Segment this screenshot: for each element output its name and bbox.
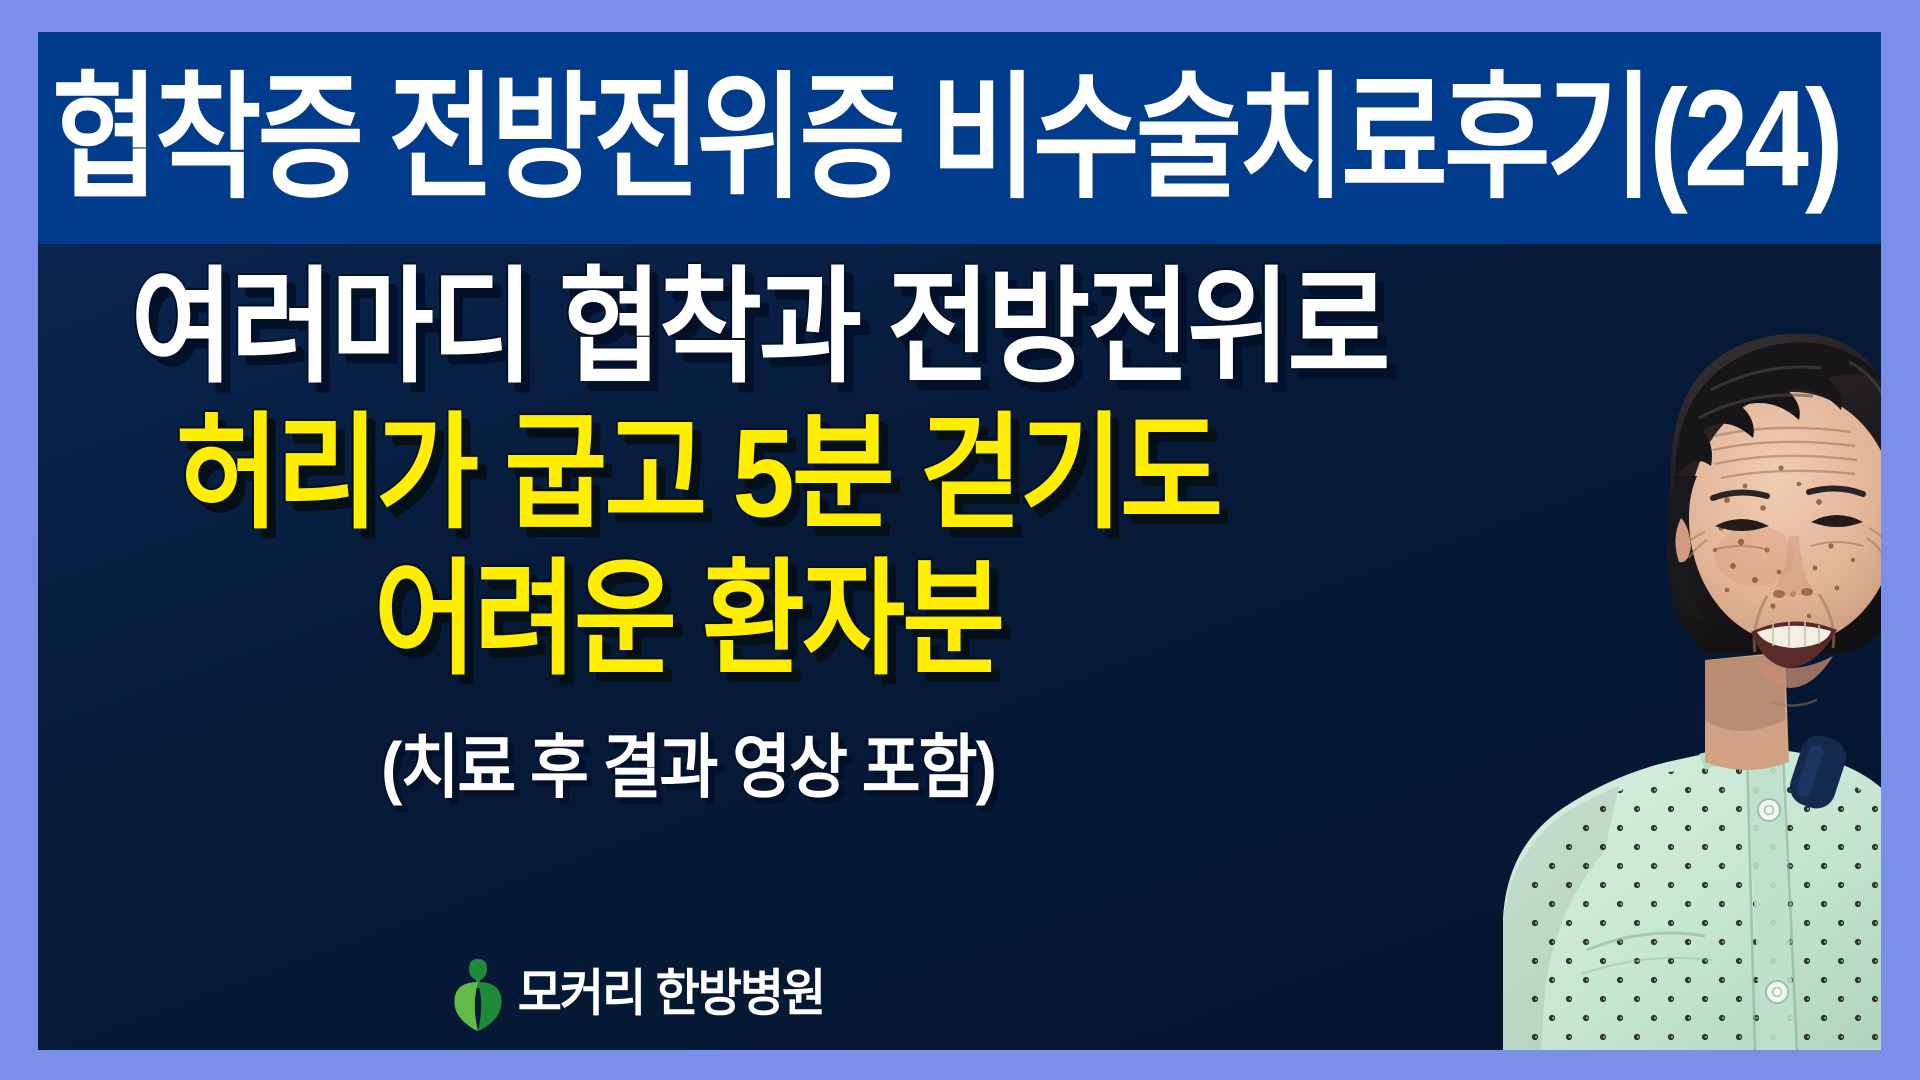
video-thumbnail: 협착증 전방전위증 비수술치료후기(24) [0, 0, 1920, 1080]
headline-block: 여러마디 협착과 전방전위로 허리가 굽고 5분 걷기도 어려운 환자분 (치료… [38, 262, 1458, 808]
thumbnail-card: 협착증 전방전위증 비수술치료후기(24) [38, 32, 1881, 1050]
thumbnail-body: 여러마디 협착과 전방전위로 허리가 굽고 5분 걷기도 어려운 환자분 (치료… [38, 244, 1881, 1050]
hospital-logo-text: 모커리 한방병원 [518, 970, 824, 1020]
headline-note: (치료 후 결과 영상 포함) [381, 712, 995, 811]
header-title: 협착증 전방전위증 비수술치료후기(24) [38, 70, 1840, 207]
headline-line-2: 허리가 굽고 5분 걷기도 [176, 411, 1220, 536]
lapel-microphone [1785, 731, 1851, 814]
headline-line-3: 어려운 환자분 [374, 557, 1002, 682]
headline-line-1: 여러마디 협착과 전방전위로 [131, 265, 1388, 390]
header-ribbon: 협착증 전방전위증 비수술치료후기(24) [38, 32, 1881, 244]
hospital-logo: 모커리 한방병원 [38, 958, 1348, 1032]
mokury-leaf-heart-icon [452, 958, 504, 1032]
